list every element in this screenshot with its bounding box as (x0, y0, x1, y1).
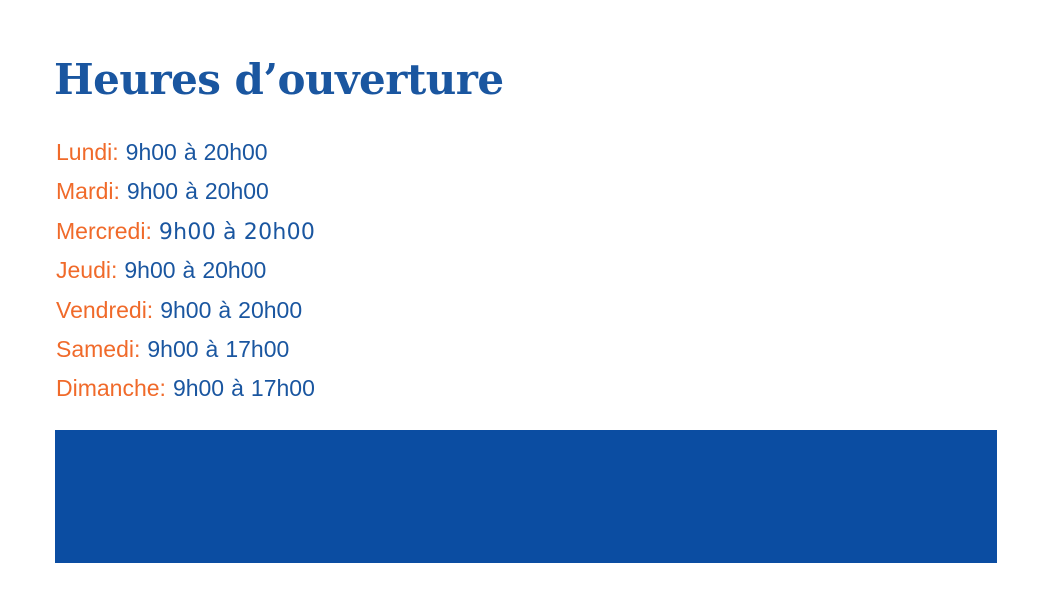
hours-value: 9h00à20h00 (126, 139, 268, 165)
time-separator: à (183, 257, 196, 283)
day-label: Samedi: (56, 336, 140, 362)
open-time: 9h00 (173, 375, 224, 401)
list-item: Lundi:9h00à20h00 (56, 133, 656, 172)
day-label: Lundi: (56, 139, 119, 165)
time-separator: à (184, 139, 197, 165)
open-time: 9h00 (124, 257, 175, 283)
hours-value: 9h00à17h00 (147, 336, 289, 362)
hours-value: 9h00à20h00 (159, 220, 315, 245)
day-label: Mardi: (56, 178, 120, 204)
list-item: Dimanche:9h00à17h00 (56, 369, 656, 408)
opening-hours-list: Lundi:9h00à20h00 Mardi:9h00à20h00 Mercre… (56, 133, 656, 409)
day-label: Mercredi: (56, 218, 152, 244)
open-time: 9h00 (147, 336, 198, 362)
close-time: 20h00 (238, 297, 302, 323)
list-item: Mardi:9h00à20h00 (56, 172, 656, 211)
list-item: Vendredi:9h00à20h00 (56, 291, 656, 330)
hours-value: 9h00à20h00 (127, 178, 269, 204)
hours-value: 9h00à17h00 (173, 375, 315, 401)
close-time: 17h00 (225, 336, 289, 362)
close-time: 17h00 (251, 375, 315, 401)
time-separator: à (218, 297, 231, 323)
list-item: Samedi:9h00à17h00 (56, 330, 656, 369)
day-label: Dimanche: (56, 375, 166, 401)
slide-canvas: Heures d’ouverture Lundi:9h00à20h00 Mard… (0, 0, 1050, 600)
close-time: 20h00 (244, 220, 315, 245)
close-time: 20h00 (205, 178, 269, 204)
footer-banner (55, 430, 997, 563)
time-separator: à (231, 375, 244, 401)
time-separator: à (223, 220, 237, 245)
open-time: 9h00 (126, 139, 177, 165)
hours-value: 9h00à20h00 (124, 257, 266, 283)
close-time: 20h00 (204, 139, 268, 165)
day-label: Jeudi: (56, 257, 117, 283)
time-separator: à (185, 178, 198, 204)
day-label: Vendredi: (56, 297, 153, 323)
time-separator: à (206, 336, 219, 362)
list-item: Mercredi:9h00à20h00 (56, 212, 656, 251)
hours-value: 9h00à20h00 (160, 297, 302, 323)
list-item: Jeudi:9h00à20h00 (56, 251, 656, 290)
open-time: 9h00 (160, 297, 211, 323)
open-time: 9h00 (127, 178, 178, 204)
page-title: Heures d’ouverture (54, 58, 504, 102)
close-time: 20h00 (202, 257, 266, 283)
open-time: 9h00 (159, 220, 216, 245)
